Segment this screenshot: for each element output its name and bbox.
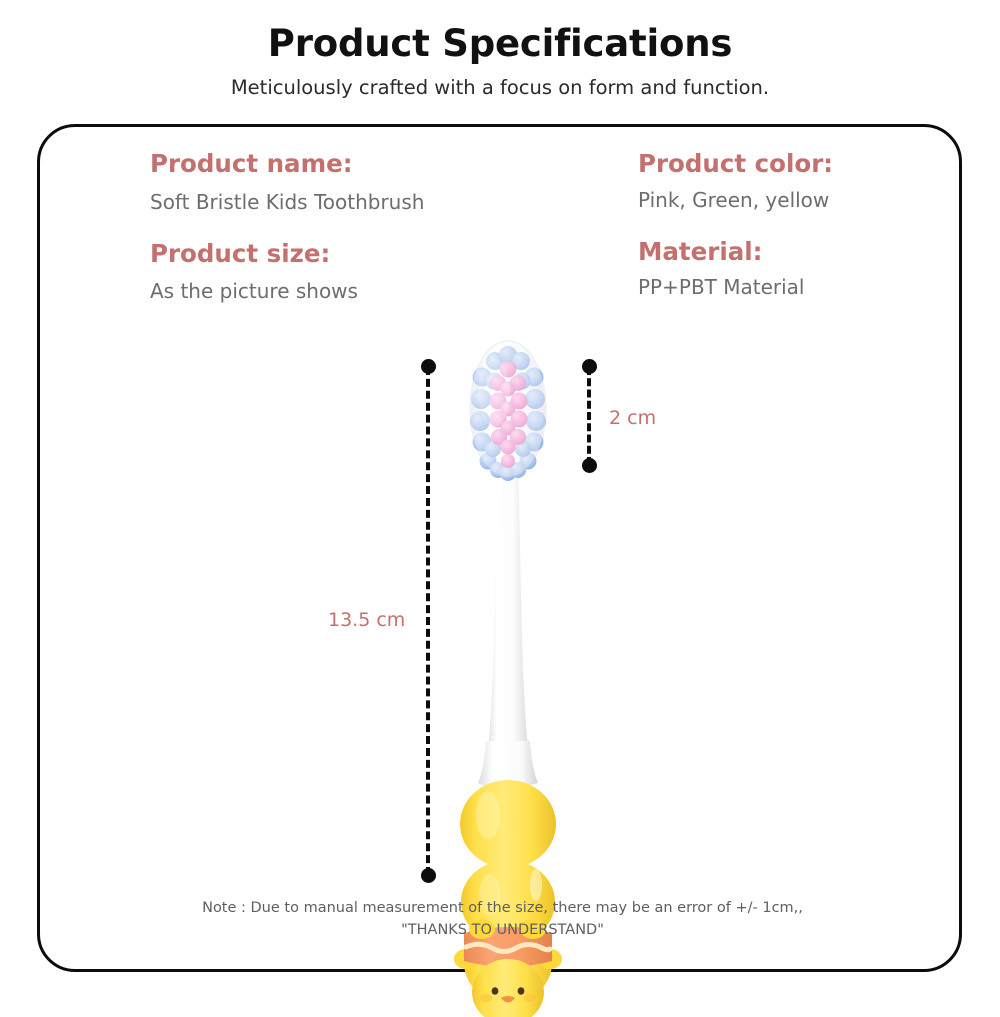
- spec-item-product-size: Product size: As the picture shows: [150, 239, 570, 305]
- spec-label-product-name: Product name:: [150, 149, 570, 180]
- spec-value-material: PP+PBT Material: [638, 267, 958, 300]
- specification-card: Product name: Soft Bristle Kids Toothbru…: [37, 124, 962, 972]
- dimension-endpoint-bottom: [582, 458, 597, 473]
- dimension-line-total-length: [420, 359, 436, 883]
- spec-value-product-color: Pink, Green, yellow: [638, 180, 958, 213]
- page-title: Product Specifications: [0, 0, 1000, 65]
- spec-column-left: Product name: Soft Bristle Kids Toothbru…: [150, 149, 570, 328]
- header: Product Specifications Meticulously craf…: [0, 0, 1000, 99]
- dimension-label-total-length: 13.5 cm: [328, 609, 405, 631]
- dimension-dashed-stem: [587, 367, 595, 465]
- spec-value-product-name: Soft Bristle Kids Toothbrush: [150, 180, 570, 215]
- dimension-endpoint-top: [582, 359, 597, 374]
- footnote-line-1: Note : Due to manual measurement of the …: [40, 897, 965, 919]
- dimension-line-head-length: [581, 359, 597, 473]
- spec-item-product-name: Product name: Soft Bristle Kids Toothbru…: [150, 149, 570, 215]
- footnote: Note : Due to manual measurement of the …: [40, 897, 965, 942]
- spec-item-material: Material: PP+PBT Material: [638, 237, 958, 301]
- spec-column-right: Product color: Pink, Green, yellow Mater…: [638, 149, 958, 324]
- spec-label-material: Material:: [638, 237, 958, 268]
- spec-label-product-color: Product color:: [638, 149, 958, 180]
- dimension-endpoint-top: [421, 359, 436, 374]
- dimension-dashed-stem: [426, 367, 434, 875]
- spec-value-product-size: As the picture shows: [150, 269, 570, 304]
- spec-label-product-size: Product size:: [150, 239, 570, 270]
- page-subtitle: Meticulously crafted with a focus on for…: [0, 65, 1000, 99]
- footnote-line-2: "THANKS TO UNDERSTAND": [40, 919, 965, 941]
- spec-item-product-color: Product color: Pink, Green, yellow: [638, 149, 958, 213]
- dimension-label-head-length: 2 cm: [609, 407, 656, 429]
- dimension-endpoint-bottom: [421, 868, 436, 883]
